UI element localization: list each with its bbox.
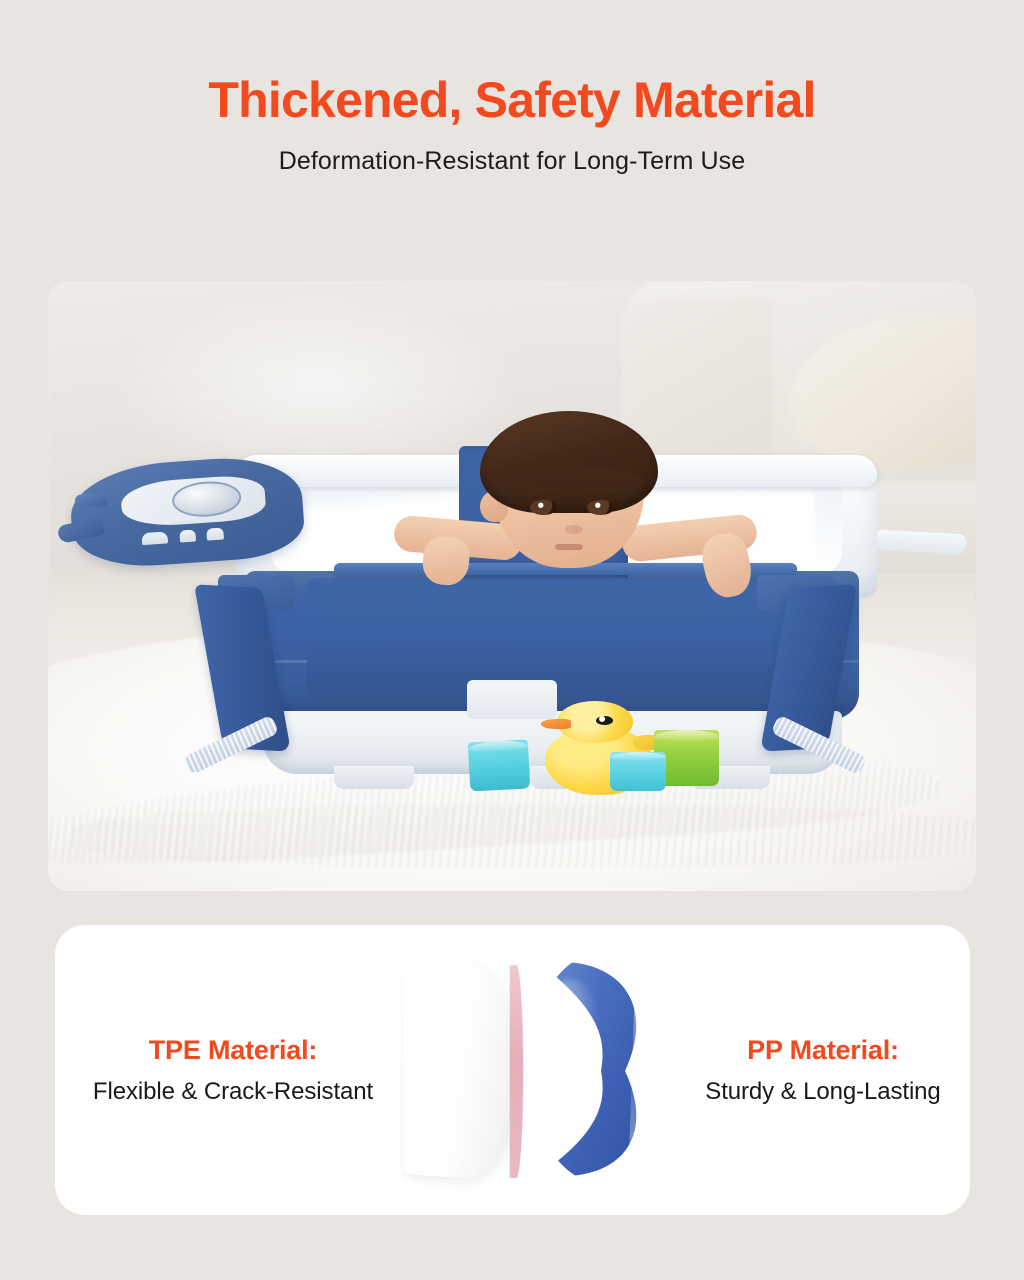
pp-material-block: PP Material: Sturdy & Long-Lasting bbox=[663, 1035, 983, 1106]
product-photo-card bbox=[48, 281, 976, 891]
baby bbox=[387, 399, 743, 641]
materials-comparison-card: TPE Material: Flexible & Crack-Resistant… bbox=[55, 925, 970, 1215]
tpe-white-strip-swatch bbox=[404, 959, 520, 1183]
baby-eye-right bbox=[587, 500, 614, 515]
tpe-material-block: TPE Material: Flexible & Crack-Resistant bbox=[73, 1035, 393, 1106]
rubber-duck-eye bbox=[596, 716, 612, 725]
control-panel-slot bbox=[142, 532, 168, 546]
header-section: Thickened, Safety Material Deformation-R… bbox=[0, 0, 1024, 176]
tpe-material-title: TPE Material: bbox=[73, 1035, 393, 1066]
tub-base-foot bbox=[334, 766, 414, 789]
pp-crescent-edge-line bbox=[628, 965, 642, 1175]
control-panel-slot bbox=[179, 530, 196, 543]
control-panel-clip bbox=[74, 493, 107, 507]
pp-material-description: Sturdy & Long-Lasting bbox=[663, 1078, 983, 1106]
pp-blue-crescent-swatch bbox=[529, 953, 657, 1183]
cup-rim bbox=[468, 739, 529, 752]
baby-mouth bbox=[555, 544, 584, 550]
material-swatches bbox=[393, 945, 663, 1195]
tub-overflow-spout bbox=[877, 529, 967, 553]
cup-rim bbox=[654, 730, 719, 741]
tpe-strip-pink-edge bbox=[510, 964, 523, 1178]
tpe-strip-highlight bbox=[411, 977, 456, 1167]
rubber-duck-beak-icon bbox=[541, 719, 571, 728]
pp-material-title: PP Material: bbox=[663, 1035, 983, 1066]
baby-hand-left bbox=[420, 535, 471, 588]
tpe-material-description: Flexible & Crack-Resistant bbox=[73, 1078, 393, 1106]
control-panel-slot bbox=[207, 528, 224, 541]
bath-cup-cyan-small bbox=[610, 752, 666, 791]
bath-toys bbox=[485, 703, 717, 797]
photo-scene bbox=[48, 281, 976, 891]
baby-bathtub bbox=[67, 446, 958, 836]
page-subtitle: Deformation-Resistant for Long-Term Use bbox=[0, 147, 1024, 176]
pp-crescent-highlight bbox=[541, 979, 599, 1079]
page-title: Thickened, Safety Material bbox=[0, 74, 1024, 127]
cup-rim bbox=[610, 752, 666, 760]
bath-cup-cyan-large bbox=[468, 739, 531, 791]
baby-eye-left bbox=[530, 500, 557, 515]
baby-hair-fringe bbox=[494, 467, 644, 506]
